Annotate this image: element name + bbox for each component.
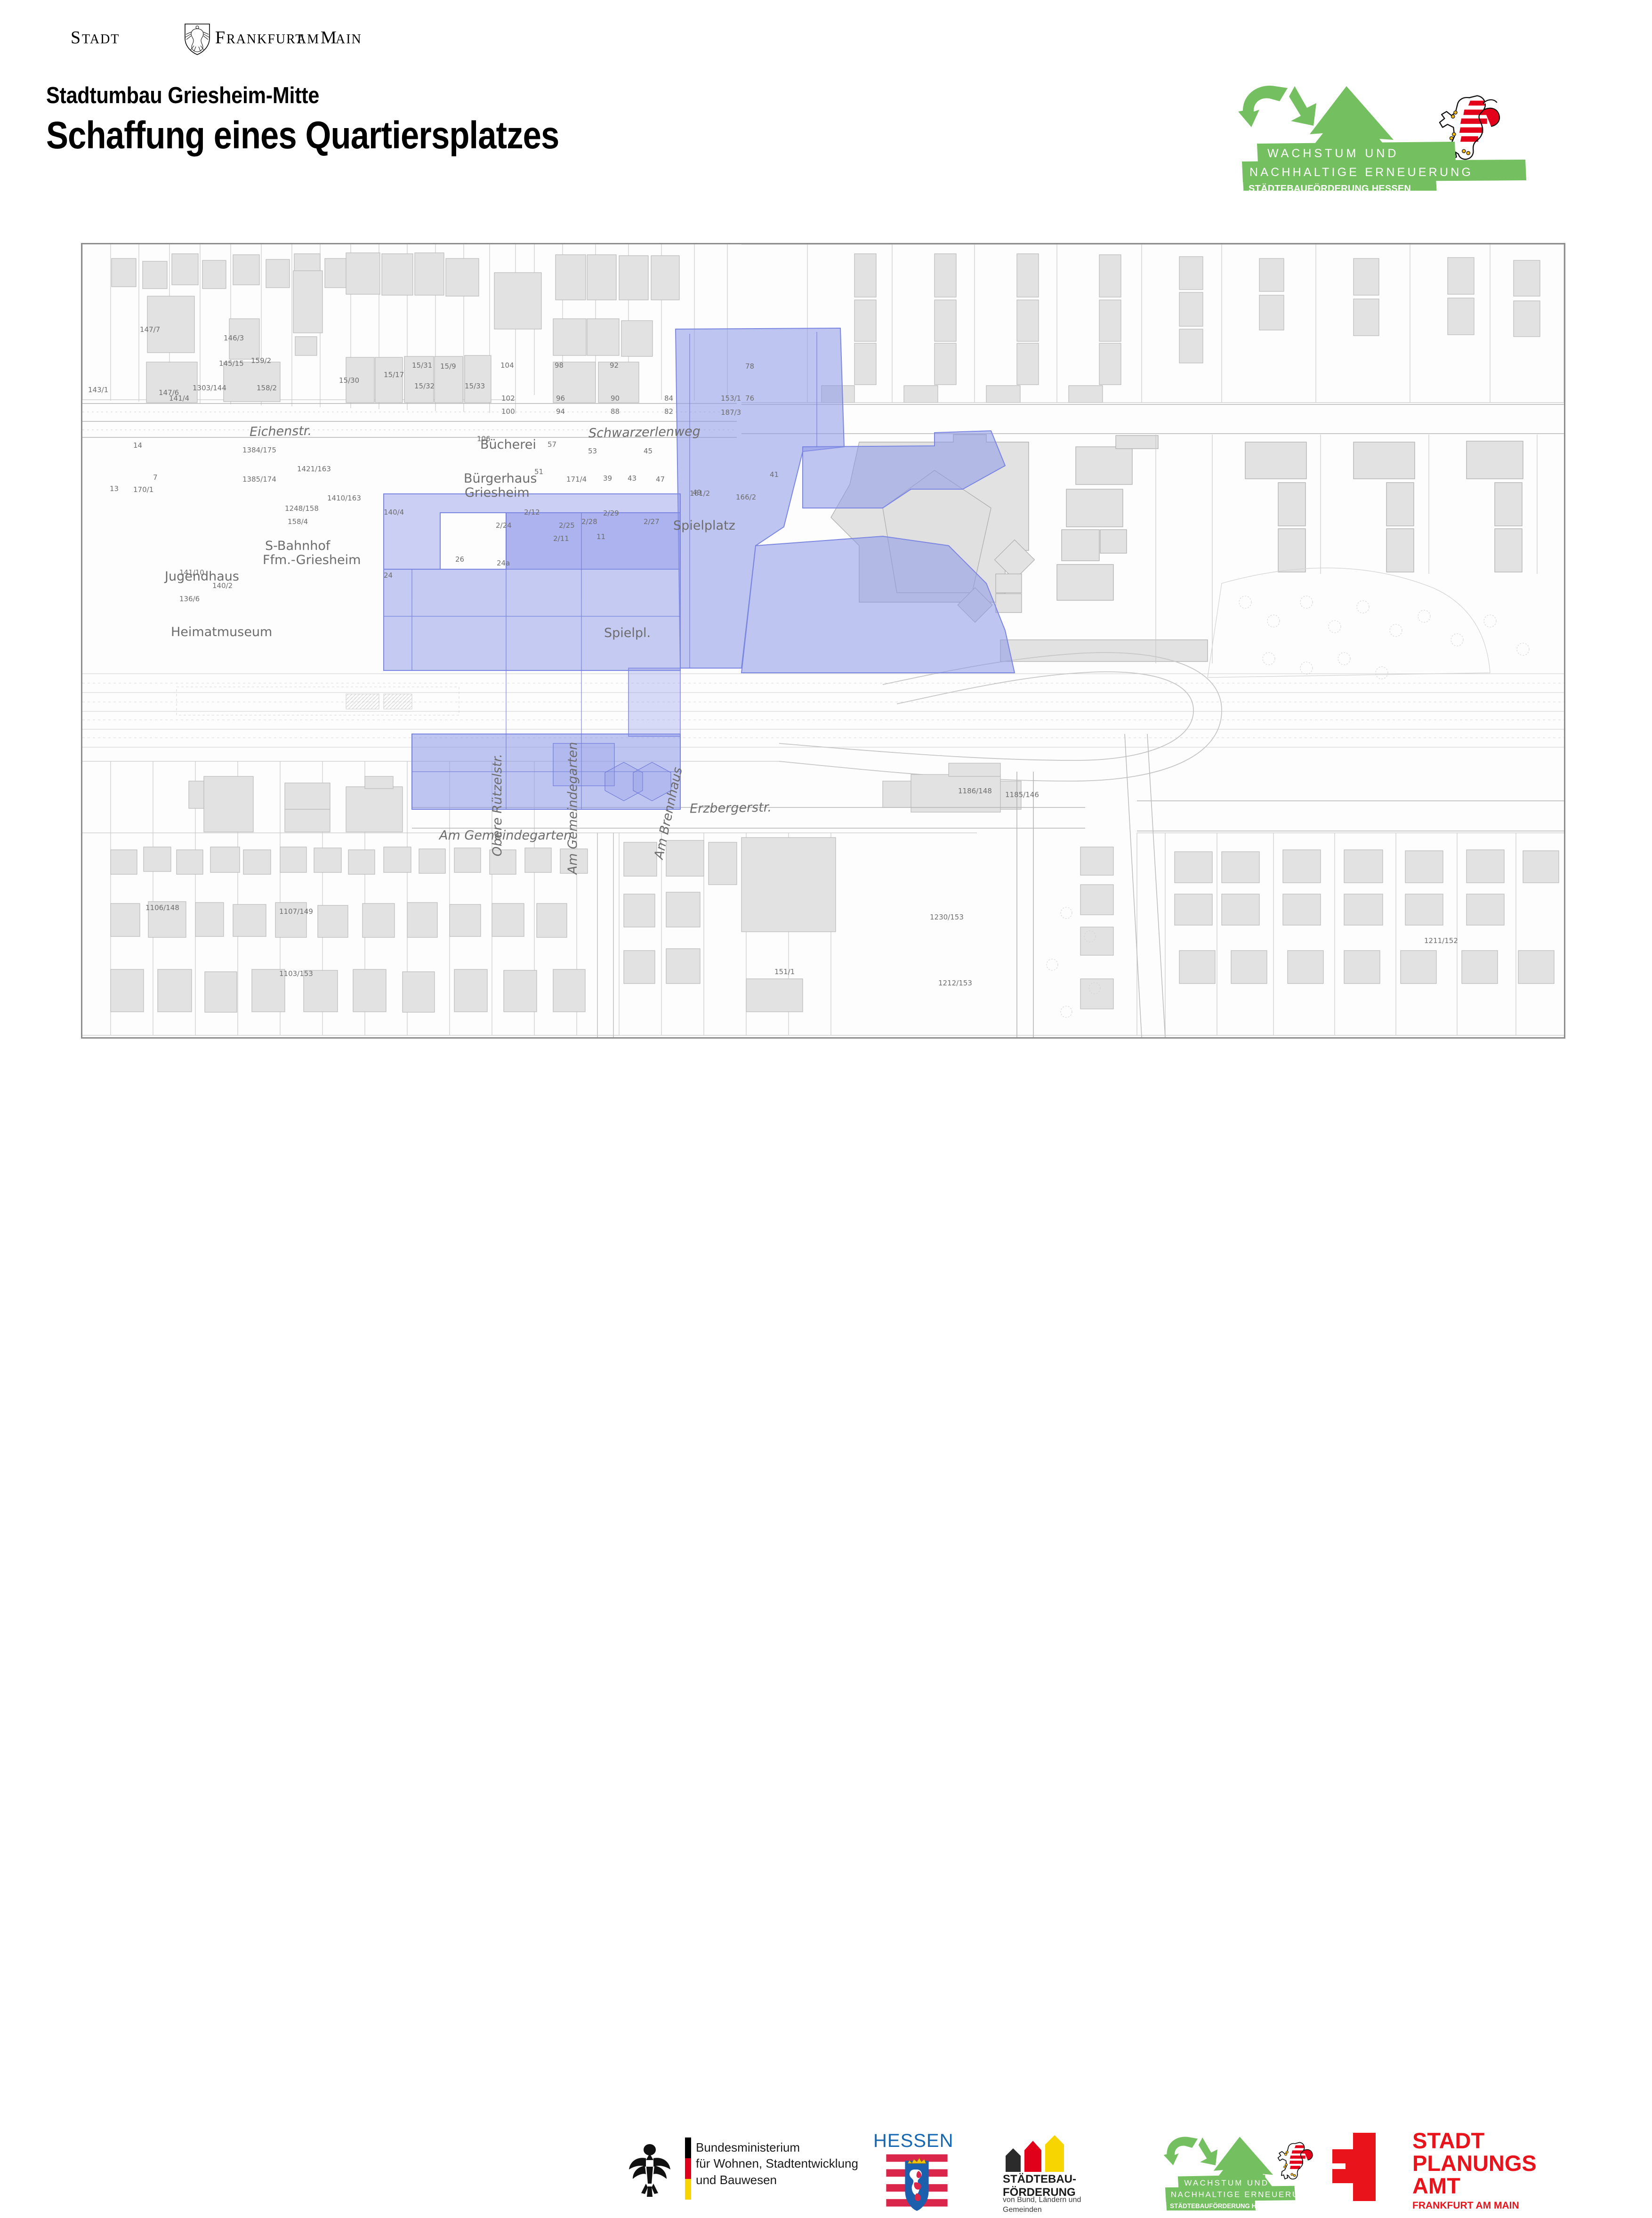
- parcel-number: 76: [745, 394, 754, 403]
- parcel-number: 158/4: [288, 517, 308, 526]
- parcel-number: 94: [556, 407, 565, 416]
- hessen-wordmark: HESSEN: [873, 2130, 960, 2152]
- parcel-number: 161/2: [690, 489, 710, 498]
- parcel-number: 1384/175: [242, 446, 276, 454]
- place-label-spielplatz: Spielplatz: [673, 518, 735, 533]
- place-label-heimatmuseum: Heimatmuseum: [171, 625, 272, 639]
- parcel-number: 147/7: [140, 325, 160, 334]
- parcel-number: 140/2: [212, 581, 233, 590]
- sb-sub-line2: Gemeinden: [1003, 2205, 1081, 2215]
- street-label-schwarzerlenweg: Schwarzerlenweg: [588, 424, 701, 441]
- parcel-number: 2/28: [581, 517, 597, 526]
- german-flag-bar: [685, 2137, 691, 2200]
- svg-text:S: S: [71, 28, 81, 48]
- place-label-s-bahnhof: S-Bahnhof: [265, 539, 330, 553]
- parcel-number: 15/32: [414, 382, 435, 390]
- sb-sub-line1: von Bund, Ländern und: [1003, 2195, 1081, 2205]
- parcel-number: 1106/148: [145, 903, 179, 912]
- street-label-erzbergerstr: Erzbergerstr.: [690, 800, 772, 816]
- stadtplanungsamt-mark-icon: [1332, 2133, 1389, 2201]
- street-label-eichenstr: Eichenstr.: [250, 424, 312, 439]
- parcel-number: 1385/174: [242, 475, 276, 484]
- bund-line-1: Bundesministerium: [696, 2139, 858, 2155]
- parcel-number: 96: [556, 394, 565, 403]
- bund-line-2: für Wohnen, Stadtentwicklung: [696, 2155, 858, 2171]
- parcel-number: 82: [664, 407, 673, 416]
- parcel-number: 57: [548, 440, 556, 449]
- parcel-number: 1248/158: [285, 504, 319, 513]
- parcel-number: 158/2: [257, 384, 277, 392]
- parcel-number: 45: [644, 447, 653, 455]
- spa-line3: AMT: [1412, 2175, 1537, 2197]
- place-label-griesheim: Griesheim: [465, 485, 530, 500]
- svg-text:M: M: [321, 28, 337, 48]
- parcel-number: 43: [628, 474, 637, 483]
- parcel-number: 15/30: [339, 376, 359, 385]
- recycle-arrow-icon-small: [1164, 2137, 1218, 2165]
- parcel-number: 15/31: [412, 361, 432, 370]
- parcel-number: 1211/152: [1424, 936, 1458, 945]
- parcel-number: 2/25: [559, 521, 575, 530]
- wachstum-erneuerung-logo: WACHSTUM UND NACHHALTIGE ERNEUERUNG STÄD…: [1238, 82, 1577, 191]
- parcel-number: 15/9: [440, 362, 456, 371]
- parcel-number: 151/1: [774, 968, 795, 976]
- parcel-number: 1410/163: [327, 494, 361, 502]
- parcel-number: 14: [133, 441, 142, 450]
- spa-line1: STADT: [1412, 2129, 1537, 2152]
- place-label-spielpl: Spielpl.: [604, 626, 651, 640]
- parcel-number: 2/24: [496, 521, 512, 530]
- parcel-number: 2/29: [603, 509, 619, 517]
- bund-line-3: und Bauwesen: [696, 2172, 858, 2188]
- parcel-number: 2/27: [644, 517, 660, 526]
- page-title: Schaffung eines Quartiersplatzes: [46, 113, 559, 158]
- parcel-number: 88: [611, 407, 620, 416]
- parcel-number: 47: [656, 475, 665, 484]
- parcel-number: 98: [555, 361, 564, 370]
- wachstum-line1: WACHSTUM UND: [1267, 147, 1399, 160]
- wachstum-line3: STÄDTEBAUFÖRDERUNG HESSEN: [1249, 183, 1411, 191]
- parcel-number: 141/4: [169, 394, 189, 403]
- parcel-number: 145/15: [219, 359, 244, 368]
- parcel-number: 171/4: [566, 475, 587, 484]
- staedtebaufoerderung-logo: STÄDTEBAU- FÖRDERUNG von Bund, Ländern u…: [1003, 2135, 1144, 2210]
- parcel-number: 1107/149: [279, 907, 313, 916]
- bundesministerium-text: Bundesministerium für Wohnen, Stadtentwi…: [696, 2139, 858, 2188]
- place-label-buergerhaus: Bürgerhaus: [464, 471, 537, 486]
- svg-text:AM: AM: [297, 32, 320, 47]
- staedtebau-subtitle: von Bund, Ländern und Gemeinden: [1003, 2195, 1081, 2215]
- parcel-number: 1230/153: [930, 913, 964, 921]
- city-logo: S TADT F RANKFURT AM M AIN: [71, 23, 372, 56]
- parcel-number: 100: [501, 407, 515, 416]
- parcel-number: 104: [500, 361, 514, 370]
- hessen-coat-of-arms-icon: [873, 2153, 960, 2216]
- street-label-am-gemeindegarten-vert: Am Gemeindegarten: [565, 742, 580, 874]
- parcel-number: 159/2: [251, 356, 271, 365]
- stadtplanungsamt-logo: STADT PLANUNGS AMT FRANKFURT AM MAIN: [1332, 2130, 1577, 2213]
- wachstum-erneuerung-logo-small: WACHSTUM UND NACHHALTIGE ERNEUERUNG STÄD…: [1163, 2135, 1323, 2210]
- parcel-number: 1185/146: [1005, 790, 1039, 799]
- parcel-number: 1212/153: [938, 979, 972, 987]
- svg-text:AIN: AIN: [336, 32, 362, 47]
- three-houses-icon: [1003, 2135, 1083, 2173]
- parcel-number: 106: [477, 435, 491, 443]
- parcel-number: 24: [384, 571, 393, 580]
- parcel-number: 170/1: [133, 485, 153, 494]
- wachstum-line2: NACHHALTIGE ERNEUERUNG: [1249, 166, 1473, 179]
- parcel-number: 140/4: [384, 508, 404, 516]
- header-text-block: Stadtumbau Griesheim-Mitte Schaffung ein…: [46, 82, 643, 158]
- parcel-number: 13: [110, 484, 119, 493]
- parcel-number: 1303/144: [193, 384, 226, 392]
- street-label-obere-ruetzelstr: Obere Rützelstr.: [490, 754, 505, 856]
- parcel-number: 15/17: [384, 371, 404, 379]
- spa-subline: FRANKFURT AM MAIN: [1412, 2200, 1519, 2211]
- svg-text:RANKFURT: RANKFURT: [226, 32, 304, 47]
- parcel-number: 90: [611, 394, 620, 403]
- place-label-ffm-griesheim: Ffm.-Griesheim: [263, 553, 361, 567]
- cadastral-map[interactable]: Eichenstr. Schwarzerlenweg Erzbergerstr.…: [81, 243, 1565, 1039]
- parcel-number: 2/12: [524, 508, 540, 516]
- wachstum-small-line1: WACHSTUM UND: [1184, 2178, 1269, 2187]
- parcel-number: 41: [770, 470, 779, 479]
- page-subtitle: Stadtumbau Griesheim-Mitte: [46, 82, 571, 109]
- footer-logo-row: Bundesministerium für Wohnen, Stadtentwi…: [0, 1059, 1652, 1163]
- parcel-number: 7: [153, 473, 158, 482]
- bundesadler-icon: [626, 2137, 673, 2200]
- parcel-number: 141/10: [179, 568, 204, 577]
- svg-text:F: F: [215, 28, 225, 48]
- parcel-number: 15/33: [465, 382, 485, 390]
- parcel-number: 1186/148: [958, 787, 992, 795]
- map-canvas: Eichenstr. Schwarzerlenweg Erzbergerstr.…: [82, 244, 1564, 1037]
- street-label-am-gemeindegarten: Am Gemeindegarten: [439, 828, 572, 843]
- wachstum-small-line3: STÄDTEBAUFÖRDERUNG HESSEN: [1170, 2202, 1278, 2210]
- parcel-number: 1103/153: [279, 969, 313, 978]
- map-vector-layer: [82, 244, 1564, 1037]
- parcel-number: 136/6: [179, 595, 200, 603]
- recycle-arrow-icon: [1238, 86, 1316, 127]
- svg-text:TADT: TADT: [82, 32, 120, 47]
- parcel-number: 102: [501, 394, 515, 403]
- wachstum-small-line2: NACHHALTIGE ERNEUERUNG: [1171, 2190, 1314, 2199]
- parcel-number: 51: [534, 468, 543, 476]
- sb-title-line1: STÄDTEBAU-: [1003, 2173, 1076, 2186]
- parcel-number: 92: [610, 361, 619, 370]
- parcel-number: 78: [745, 362, 754, 371]
- parcel-number: 1421/163: [297, 465, 331, 473]
- parcel-number: 53: [588, 447, 597, 455]
- stadtplanungsamt-wordmark: STADT PLANUNGS AMT: [1412, 2129, 1537, 2197]
- parcel-number: 166/2: [736, 493, 756, 501]
- parcel-number: 143/1: [88, 386, 108, 394]
- parcel-number: 187/3: [721, 408, 741, 417]
- parcel-number: 26: [455, 555, 464, 564]
- parcel-number: 39: [603, 474, 612, 483]
- bundesministerium-logo: Bundesministerium für Wohnen, Stadtentwi…: [626, 2137, 843, 2203]
- parcel-number: 146/3: [224, 334, 244, 342]
- parcel-number: 84: [664, 394, 673, 403]
- parcel-number: 11: [596, 532, 605, 541]
- hessen-logo: HESSEN: [873, 2130, 960, 2213]
- parcel-number: 24a: [497, 559, 510, 567]
- parcel-number: 153/1: [721, 394, 741, 403]
- parcel-number: 2/11: [553, 534, 569, 543]
- spa-line2: PLANUNGS: [1412, 2152, 1537, 2175]
- hessen-lion-icon-small: [1278, 2142, 1313, 2179]
